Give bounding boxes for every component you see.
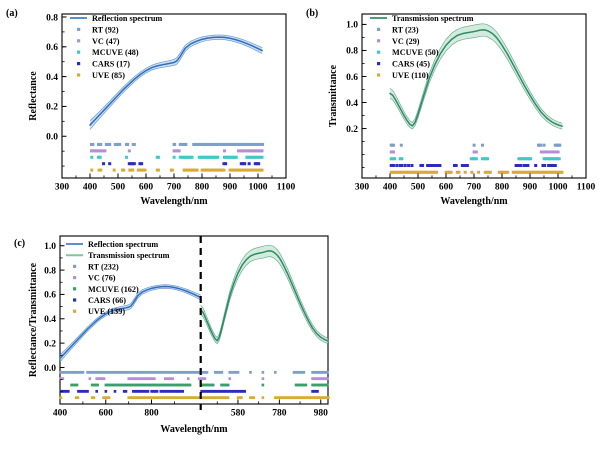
legend-marker-swatch: [77, 62, 80, 65]
marker-tick: [204, 377, 207, 380]
marker-tick: [400, 144, 403, 147]
legend-label: RT (23): [392, 25, 419, 34]
x-tick-label: 600: [99, 409, 114, 419]
x-tick-label: 800: [144, 409, 159, 419]
marker-tick: [157, 169, 160, 172]
marker-tick: [114, 390, 117, 393]
legend-marker-swatch: [377, 51, 380, 54]
marker-tick: [189, 384, 192, 387]
x-tick-label: 600: [139, 183, 154, 193]
marker-tick: [173, 143, 176, 146]
y-axis: 0.00.20.40.60.81.0Reflectance/Transmitta…: [28, 242, 65, 392]
marker-tick: [223, 149, 226, 152]
marker-tick: [243, 390, 246, 393]
band-edge-lower-0: [60, 288, 201, 362]
marker-tick: [153, 377, 156, 380]
x-tick-label: 1000: [549, 183, 568, 193]
y-tick-label: 0.0: [46, 133, 58, 143]
y-tick-label: 0.4: [346, 99, 358, 109]
panel-c-combined: (c)400600800580780980Wavelength/nm0.00.2…: [8, 222, 348, 449]
legend: Transmission spectrumRT (23)VC (29)MCUVE…: [370, 14, 474, 80]
marker-tick: [89, 377, 92, 380]
legend-marker-swatch: [377, 28, 380, 31]
marker-tick: [470, 171, 473, 174]
y-tick-label: 1.0: [44, 242, 56, 252]
legend-label: UVE (139): [88, 307, 125, 316]
legend-marker-swatch: [77, 73, 80, 76]
marker-tick: [60, 396, 63, 399]
x-tick-label: 700: [467, 183, 482, 193]
panel-b-chart: (b)30040050060070080090010001100Waveleng…: [300, 0, 600, 222]
marker-tick: [392, 164, 395, 167]
marker-tick: [475, 150, 478, 153]
marker-tick: [543, 144, 546, 147]
marker-tick: [477, 171, 480, 174]
panel-c-chart: (c)400600800580780980Wavelength/nm0.00.2…: [8, 222, 348, 449]
marker-tick: [108, 143, 111, 146]
y-tick-label: 0.6: [44, 291, 56, 301]
marker-tick: [237, 371, 240, 374]
marker-tick: [156, 390, 159, 393]
legend-marker-swatch: [377, 39, 380, 42]
x-tick-label: 800: [195, 183, 210, 193]
marker-tick: [105, 390, 108, 393]
x-axis: 400600800580780980Wavelength/nm: [53, 400, 328, 436]
marker-tick: [305, 384, 308, 387]
marker-tick: [171, 169, 174, 172]
marker-tick: [261, 143, 264, 146]
legend-label: MCUVE (48): [92, 48, 139, 57]
marker-tick: [392, 144, 395, 147]
panel-letter: (b): [306, 8, 318, 19]
x-tick-label: 500: [411, 183, 426, 193]
panel-a-chart: (a)30040050060070080090010001100Waveleng…: [0, 0, 300, 222]
marker-tick: [227, 384, 230, 387]
legend-marker-swatch: [73, 287, 76, 290]
legend-label: Reflection spectrum: [92, 14, 162, 23]
marker-tick: [435, 171, 438, 174]
marker-tick: [113, 169, 116, 172]
marker-tick: [206, 371, 209, 374]
marker-tick: [216, 156, 219, 159]
marker-tick: [196, 169, 199, 172]
marker-tick: [534, 164, 537, 167]
legend-label: VC (29): [392, 37, 420, 46]
marker-tick: [77, 396, 80, 399]
marker-tick: [262, 396, 265, 399]
marker-tick: [455, 164, 458, 167]
marker-tick: [125, 390, 128, 393]
band-edge-lower-1: [201, 257, 328, 344]
marker-tick: [248, 162, 251, 165]
selected-wavelength-markers: [60, 371, 330, 399]
legend-marker-swatch: [77, 28, 80, 31]
marker-tick: [393, 157, 396, 160]
marker-tick: [526, 164, 529, 167]
x-tick-label: 1100: [277, 183, 296, 193]
marker-tick: [131, 169, 134, 172]
marker-tick: [489, 171, 492, 174]
marker-tick: [228, 377, 231, 380]
marker-tick: [86, 390, 89, 393]
legend-marker-swatch: [77, 39, 80, 42]
marker-tick: [438, 164, 441, 167]
legend-label: Transmission spectrum: [88, 251, 170, 260]
marker-tick: [473, 144, 476, 147]
marker-tick: [93, 396, 96, 399]
x-tick-label: 400: [83, 183, 98, 193]
marker-tick: [262, 384, 265, 387]
y-tick-label: 1.0: [346, 21, 358, 31]
marker-tick: [227, 396, 230, 399]
spectrum-curve-0: [60, 287, 201, 359]
marker-tick: [257, 162, 260, 165]
marker-tick: [326, 377, 329, 380]
marker-tick: [327, 396, 330, 399]
y-tick-label: 0.6: [346, 73, 358, 83]
panel-letter: (c): [14, 238, 25, 249]
legend-label: MCUVE (162): [88, 285, 139, 294]
marker-tick: [99, 156, 102, 159]
x-tick-label: 800: [495, 183, 510, 193]
marker-tick: [235, 156, 238, 159]
y-tick-label: 0.4: [46, 73, 58, 83]
selected-wavelength-markers: [390, 144, 564, 174]
x-tick-label: 1000: [249, 183, 268, 193]
marker-tick: [102, 162, 105, 165]
y-tick-label: 0.8: [46, 13, 58, 23]
marker-tick: [400, 157, 403, 160]
marker-tick: [108, 396, 111, 399]
legend-label: MCUVE (50): [392, 48, 439, 57]
panel-letter: (a): [6, 8, 18, 19]
marker-tick: [191, 156, 194, 159]
marker-tick: [143, 169, 146, 172]
marker-tick: [91, 143, 94, 146]
y-tick-label: 0.8: [346, 47, 358, 57]
marker-tick: [243, 162, 246, 165]
y-axis-title: Reflectance/Transmittance: [28, 262, 39, 377]
selected-wavelength-markers: [90, 143, 264, 172]
legend-marker-swatch: [377, 73, 380, 76]
x-tick-label: 580: [231, 409, 246, 419]
legend-label: UVE (85): [92, 71, 125, 80]
marker-tick: [529, 157, 532, 160]
marker-tick: [520, 164, 523, 167]
marker-tick: [90, 156, 93, 159]
y-tick-label: 0.6: [46, 43, 58, 53]
legend: Reflection spectrumTransmission spectrum…: [66, 240, 170, 316]
legend-label: Reflection spectrum: [88, 240, 158, 249]
x-axis-title: Wavelength/nm: [160, 424, 228, 435]
marker-tick: [326, 371, 329, 374]
marker-tick: [410, 164, 413, 167]
y-axis-title: Transmittance: [328, 64, 339, 127]
marker-tick: [224, 162, 227, 165]
x-tick-label: 400: [383, 183, 398, 193]
spectral-figure: (a)30040050060070080090010001100Waveleng…: [0, 0, 600, 449]
x-tick-label: 300: [55, 183, 70, 193]
x-tick-label: 780: [272, 409, 287, 419]
x-axis-title: Wavelength/nm: [140, 196, 208, 207]
marker-tick: [450, 171, 453, 174]
marker-tick: [557, 150, 560, 153]
marker-tick: [326, 384, 329, 387]
marker-tick: [506, 171, 509, 174]
marker-tick: [147, 390, 150, 393]
marker-tick: [558, 144, 561, 147]
legend-label: Transmission spectrum: [392, 14, 474, 23]
marker-tick: [303, 371, 306, 374]
marker-tick: [128, 149, 131, 152]
marker-tick: [221, 371, 224, 374]
marker-tick: [118, 143, 121, 146]
y-tick-label: 0.2: [346, 125, 358, 135]
confidence-band-1: [201, 245, 328, 343]
marker-tick: [316, 390, 319, 393]
x-tick-label: 700: [167, 183, 182, 193]
marker-tick: [392, 150, 395, 153]
spectrum-curve-1: [201, 251, 328, 341]
marker-tick: [212, 384, 215, 387]
marker-tick: [96, 384, 99, 387]
marker-tick: [421, 164, 424, 167]
marker-tick: [99, 169, 102, 172]
marker-tick: [554, 164, 557, 167]
panel-b-transmission: (b)30040050060070080090010001100Waveleng…: [300, 0, 600, 222]
marker-tick: [82, 371, 85, 374]
y-tick-label: 0.8: [44, 266, 56, 276]
marker-tick: [103, 377, 106, 380]
marker-tick: [261, 169, 264, 172]
marker-tick: [125, 156, 128, 159]
legend-label: VC (47): [92, 37, 120, 46]
x-tick-label: 300: [355, 183, 370, 193]
x-tick-label: 900: [523, 183, 538, 193]
marker-tick: [173, 156, 176, 159]
marker-tick: [466, 164, 469, 167]
band-edge-upper-0: [60, 285, 201, 355]
marker-tick: [67, 390, 70, 393]
y-axis: 0.00.20.40.60.8Reflectance: [28, 13, 67, 166]
marker-tick: [76, 384, 79, 387]
marker-tick: [539, 144, 542, 147]
marker-tick: [481, 144, 484, 147]
legend-marker-swatch: [77, 51, 80, 54]
marker-tick: [108, 162, 111, 165]
marker-tick: [558, 157, 561, 160]
x-tick-label: 400: [53, 409, 68, 419]
marker-tick: [486, 157, 489, 160]
y-tick-label: 0.2: [44, 339, 56, 349]
marker-tick: [261, 149, 264, 152]
marker-tick: [126, 143, 129, 146]
x-tick-label: 500: [111, 183, 126, 193]
legend-label: UVE (110): [392, 71, 429, 80]
legend-marker-swatch: [377, 62, 380, 65]
x-tick-label: 1100: [577, 183, 596, 193]
confidence-band-0: [60, 285, 201, 362]
marker-tick: [157, 156, 160, 159]
marker-tick: [262, 371, 265, 374]
marker-tick: [543, 164, 546, 167]
marker-tick: [140, 162, 143, 165]
x-axis-title: Wavelength/nm: [440, 196, 508, 207]
legend-label: VC (76): [88, 274, 116, 283]
marker-tick: [475, 157, 478, 160]
legend-label: CARS (45): [392, 60, 430, 69]
marker-tick: [261, 156, 264, 159]
marker-tick: [240, 396, 243, 399]
marker-tick: [404, 164, 407, 167]
marker-tick: [249, 371, 252, 374]
legend-marker-swatch: [73, 276, 76, 279]
y-axis-title: Reflectance: [28, 71, 39, 121]
marker-tick: [198, 377, 201, 380]
y-tick-label: 0.4: [44, 315, 56, 325]
marker-tick: [178, 149, 181, 152]
marker-tick: [181, 390, 184, 393]
legend-label: RT (92): [92, 25, 119, 34]
marker-tick: [99, 143, 102, 146]
marker-tick: [133, 143, 136, 146]
marker-tick: [90, 169, 93, 172]
legend-marker-swatch: [73, 310, 76, 313]
legend-marker-swatch: [73, 298, 76, 301]
marker-tick: [274, 371, 277, 374]
x-tick-label: 900: [223, 183, 238, 193]
marker-tick: [561, 171, 564, 174]
legend-label: CARS (66): [88, 296, 126, 305]
y-tick-label: 0.2: [46, 103, 58, 113]
marker-tick: [184, 143, 187, 146]
marker-tick: [133, 162, 136, 165]
marker-tick: [400, 164, 403, 167]
marker-tick: [407, 164, 410, 167]
panel-a-reflection: (a)30040050060070080090010001100Waveleng…: [0, 0, 300, 222]
marker-tick: [464, 171, 467, 174]
marker-tick: [395, 164, 398, 167]
legend-label: CARS (17): [92, 60, 130, 69]
legend-label: RT (232): [88, 262, 119, 271]
x-tick-label: 600: [439, 183, 454, 193]
y-axis: 0.20.40.60.81.0Transmittance: [328, 21, 367, 168]
marker-tick: [222, 169, 225, 172]
y-tick-label: 0.0: [44, 364, 56, 374]
marker-tick: [252, 396, 255, 399]
marker-tick: [103, 149, 106, 152]
marker-tick: [262, 377, 265, 380]
marker-tick: [171, 377, 174, 380]
legend-marker-swatch: [73, 265, 76, 268]
marker-tick: [122, 169, 125, 172]
x-tick-label: 980: [314, 409, 329, 419]
marker-tick: [95, 390, 98, 393]
marker-tick: [457, 171, 460, 174]
marker-tick: [187, 377, 190, 380]
